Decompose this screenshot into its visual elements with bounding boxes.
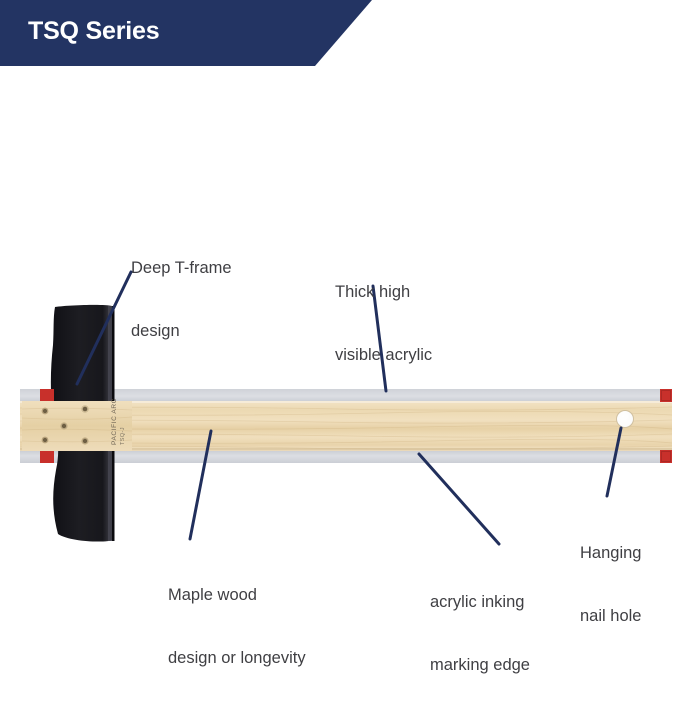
callout-hanging-nail-hole: Hanging nail hole [580,501,641,669]
callout-line-2: visible acrylic [335,345,432,366]
screw [81,405,89,413]
callout-line-1: Maple wood [168,585,306,606]
screw [42,408,49,415]
callout-line-1: Hanging [580,543,641,564]
callout-line-2: design [131,321,232,342]
callout-line-2: nail hole [580,606,641,627]
leader-line-acrylic-inking [419,454,499,544]
screw [81,437,88,444]
model-text: TSQ-J [120,427,126,445]
callout-line-2: marking edge [430,655,530,676]
brand-text: PACIFIC ARC [111,398,118,445]
head-accent-red-bottom [40,450,54,463]
callout-maple-wood: Maple wood design or longevity [168,543,306,711]
screw [42,437,49,444]
callout-deep-t-frame: Deep T-frame design [131,216,232,384]
callout-line-2: design or longevity [168,648,306,669]
t-frame-head-group: PACIFIC ARC TSQ-J [22,305,132,542]
callout-thick-acrylic: Thick high visible acrylic [335,240,432,408]
screw [60,422,67,429]
head-accent-red-top [40,389,54,402]
product-feature-diagram: TSQ Series [0,0,679,594]
callout-line-1: acrylic inking [430,592,530,613]
callout-line-1: Deep T-frame [131,258,232,279]
callout-acrylic-inking: acrylic inking marking edge [430,550,530,718]
acrylic-strip-bottom [20,450,672,463]
callout-line-1: Thick high [335,282,432,303]
